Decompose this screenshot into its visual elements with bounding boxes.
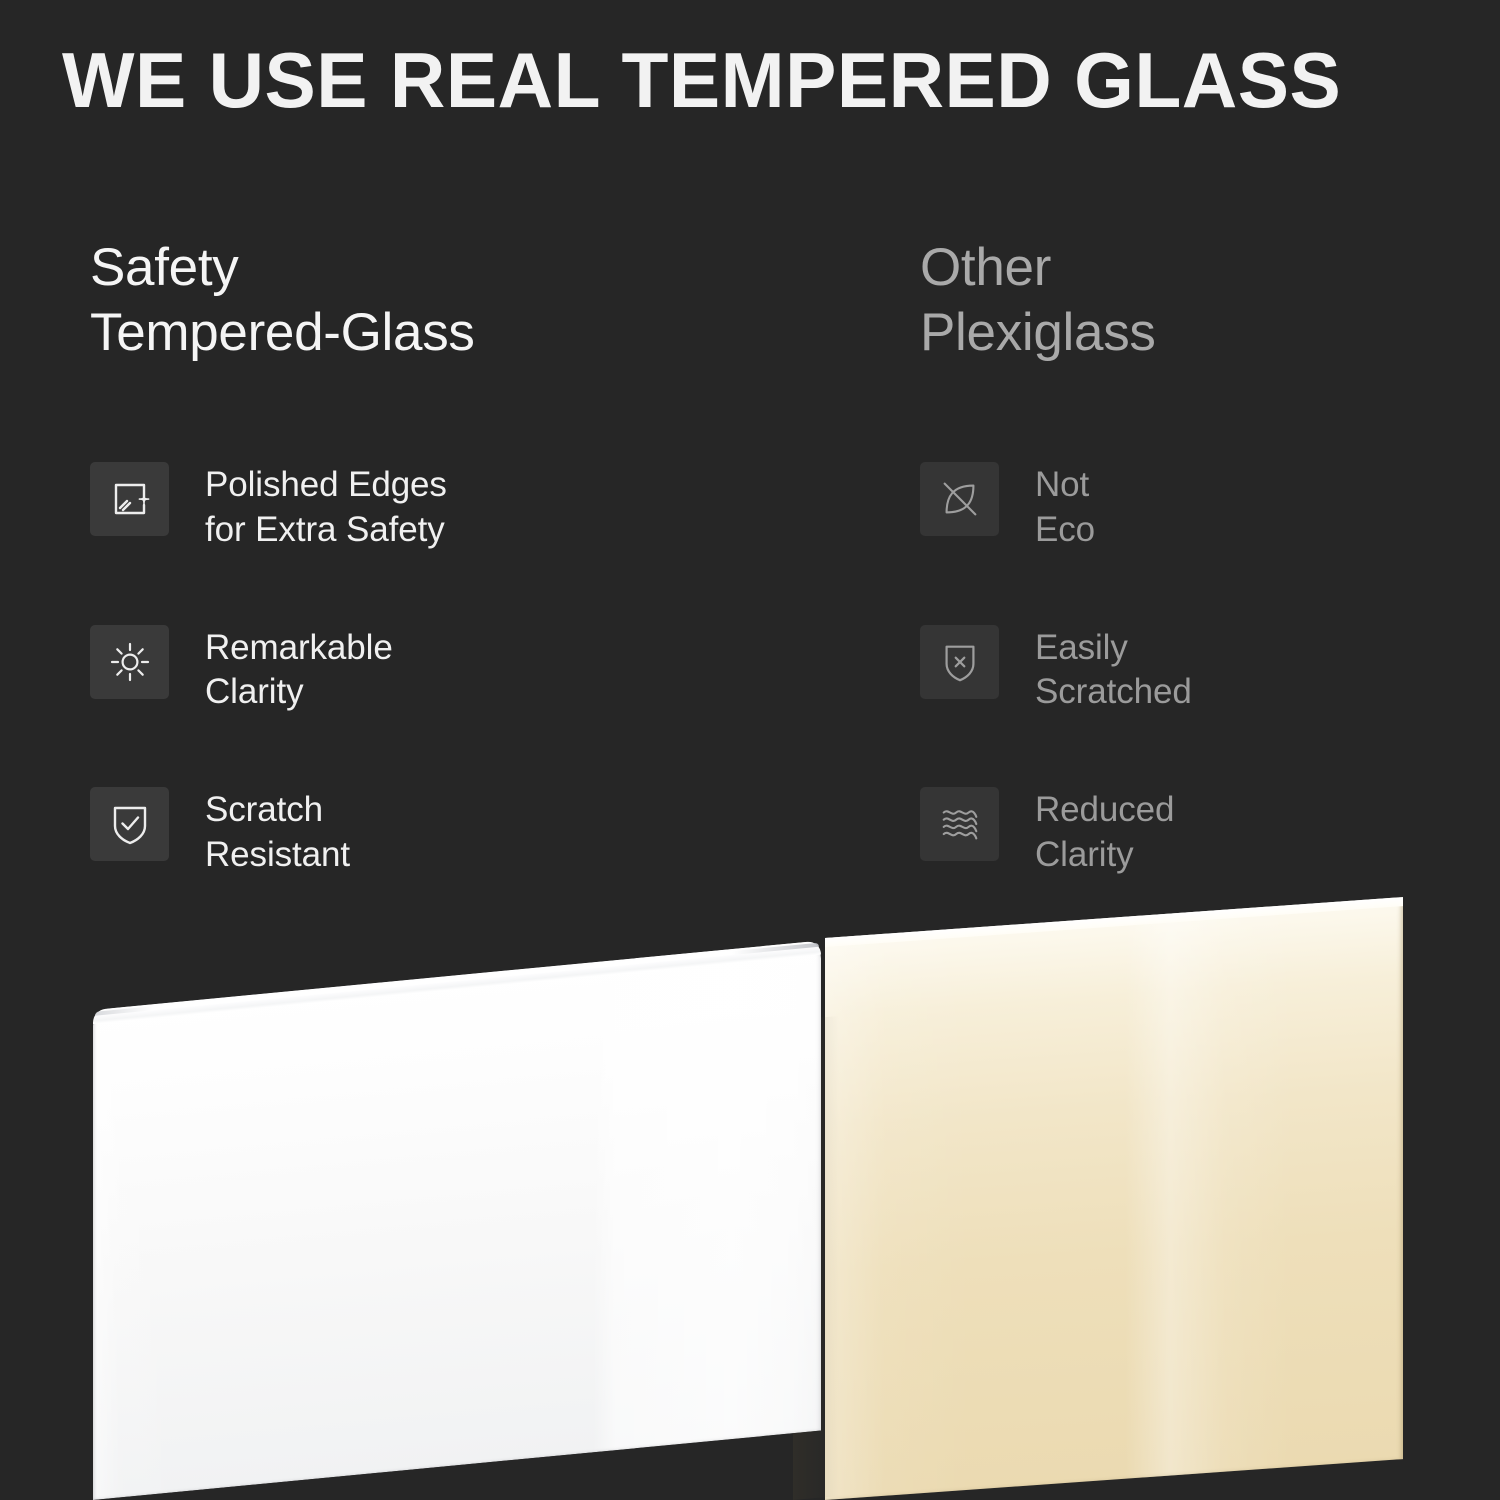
feature-item: Scratch Resistant [90, 787, 850, 878]
comparison-columns: Safety Tempered-Glass Polished Edges for… [0, 236, 1500, 876]
page-title: WE USE REAL TEMPERED GLASS [62, 40, 1441, 122]
feature-item: Easily Scratched [920, 625, 1460, 716]
feature-label: Not Eco [1035, 462, 1095, 553]
column-other-plexiglass: Other Plexiglass Not Eco [920, 236, 1460, 365]
column-safety-tempered-glass: Safety Tempered-Glass Polished Edges for… [90, 236, 850, 365]
column-title-good: Safety Tempered-Glass [90, 236, 850, 365]
feature-label: Polished Edges for Extra Safety [205, 462, 447, 553]
polished-edge-sparkle-icon [90, 462, 169, 536]
shield-x-icon [920, 625, 999, 699]
feature-label: Remarkable Clarity [205, 625, 393, 716]
feature-item: Not Eco [920, 462, 1460, 553]
column-title-bad: Other Plexiglass [920, 236, 1460, 365]
feature-label: Reduced Clarity [1035, 787, 1174, 878]
comparison-infographic: WE USE REAL TEMPERED GLASS Safety Temper… [0, 0, 1500, 1500]
wavy-lines-icon [920, 787, 999, 861]
tempered-glass-panel-clear [93, 941, 821, 1500]
feature-item: Polished Edges for Extra Safety [90, 462, 850, 553]
sun-brightness-icon [90, 625, 169, 699]
leaf-crossed-out-icon [920, 462, 999, 536]
feature-item: Reduced Clarity [920, 787, 1460, 878]
feature-list-good: Polished Edges for Extra Safety [90, 462, 850, 878]
plexiglass-panel-yellowed [825, 897, 1403, 1500]
feature-item: Remarkable Clarity [90, 625, 850, 716]
feature-label: Scratch Resistant [205, 787, 350, 878]
product-photo [0, 870, 1500, 1500]
shield-check-icon [90, 787, 169, 861]
feature-label: Easily Scratched [1035, 625, 1192, 716]
feature-list-bad: Not Eco Easily Scratched [920, 462, 1460, 878]
